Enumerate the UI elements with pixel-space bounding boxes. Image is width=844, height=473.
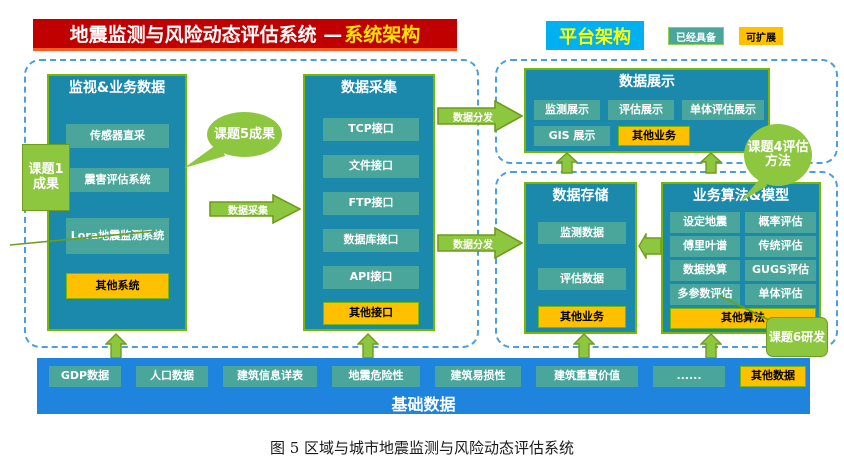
legend-platform-label: 平台架构	[559, 23, 631, 49]
chip-data-conversion[interactable]: 数据换算	[670, 260, 740, 281]
arrow-base-feed-storage	[573, 333, 595, 359]
chip-database-interface[interactable]: 数据库接口	[323, 229, 419, 252]
chip-building-replacement-value[interactable]: 建筑重置价值	[536, 366, 638, 387]
chip-scenario-earthquake[interactable]: 设定地震	[670, 212, 740, 233]
panel-monitoring-title: 监视&业务数据	[49, 76, 185, 99]
chip-api-interface[interactable]: API接口	[323, 266, 419, 289]
figure-caption: 图 5 区域与城市地震监测与风险动态评估系统	[0, 437, 844, 458]
chip-fourier-spectrum[interactable]: 傅里叶谱	[670, 236, 740, 257]
page-title-accent: 系统架构	[344, 20, 420, 47]
chip-building-info-table[interactable]: 建筑信息详表	[223, 366, 317, 387]
panel-data-display-title: 数据展示	[526, 70, 768, 93]
page-title: 地震监测与风险动态评估系统 — 系统架构	[33, 19, 457, 51]
chip-monitoring-display[interactable]: 监测展示	[534, 100, 600, 120]
callout-topic6-rnd: 课题6研发	[766, 317, 828, 357]
arrow-display-feed-storage	[556, 152, 578, 174]
arrow-storage-algorithm-link	[638, 233, 662, 259]
chip-other-business-storage[interactable]: 其他业务	[538, 306, 626, 328]
arrow-data-collection: 数据采集	[209, 194, 301, 224]
chip-other-interfaces[interactable]: 其他接口	[323, 302, 419, 325]
chip-other-systems[interactable]: 其他系统	[66, 273, 169, 299]
callout-topic4-assessment-method: 课题4评估方法	[744, 124, 812, 186]
base-data-label: 基础数据	[37, 391, 810, 415]
chip-single-building-assessment-display[interactable]: 单体评估展示	[682, 100, 764, 120]
architecture-diagram: 地震监测与风险动态评估系统 — 系统架构 平台架构 已经具备 可扩展 监视&业务…	[0, 0, 844, 473]
chip-other-data[interactable]: 其他数据	[740, 366, 806, 387]
chip-population-data[interactable]: 人口数据	[136, 366, 208, 387]
callout-topic5-achievement: 课题5成果	[207, 112, 282, 157]
chip-monitoring-data[interactable]: 监测数据	[538, 222, 626, 244]
chip-gugs-assessment[interactable]: GUGS评估	[745, 260, 816, 281]
chip-gdp-data[interactable]: GDP数据	[49, 366, 121, 387]
chip-ftp-interface[interactable]: FTP接口	[323, 192, 419, 215]
chip-tcp-interface[interactable]: TCP接口	[323, 118, 419, 141]
legend-platform-architecture: 平台架构	[546, 21, 644, 50]
chip-traditional-assessment[interactable]: 传统评估	[745, 236, 816, 257]
panel-data-collection: 数据采集 TCP接口 文件接口 FTP接口 数据库接口 API接口 其他接口	[303, 74, 435, 331]
callout-topic1-achievement: 课题1成果	[22, 144, 70, 211]
arrow-base-feed-collection	[357, 333, 379, 359]
legend-available: 已经具备	[668, 27, 724, 45]
chip-other-business-display[interactable]: 其他业务	[618, 126, 690, 146]
chip-seismic-hazard[interactable]: 地震危险性	[332, 366, 420, 387]
callout-topic6-label: 课题6研发	[769, 331, 825, 344]
panel-data-storage: 数据存储 监测数据 评估数据 其他业务	[524, 182, 637, 334]
chip-ellipsis-more-data[interactable]: ......	[653, 366, 725, 387]
panel-data-collection-title: 数据采集	[305, 76, 433, 99]
arrow-display-feed-algorithm	[700, 152, 722, 174]
chip-building-vulnerability[interactable]: 建筑易损性	[435, 366, 521, 387]
arrow-data-distribution-bottom: 数据分发	[437, 227, 523, 259]
arrow-base-feed-algorithm	[700, 333, 722, 359]
legend-extensible: 可扩展	[739, 27, 783, 45]
panel-data-storage-title: 数据存储	[526, 184, 635, 207]
chip-assessment-data[interactable]: 评估数据	[538, 268, 626, 290]
callout-topic1-label: 课题1成果	[23, 163, 69, 191]
arrow-base-feed-monitoring	[105, 333, 127, 359]
chip-sensor-direct-collection[interactable]: 传感器直采	[66, 124, 169, 148]
callout-topic5-label: 课题5成果	[214, 128, 275, 142]
page-title-main: 地震监测与风险动态评估系统 —	[70, 20, 343, 47]
callout-topic1-connector	[8, 228, 158, 248]
chip-seismic-damage-assessment-system[interactable]: 震害评估系统	[66, 168, 169, 192]
chip-gis-display[interactable]: GIS 展示	[534, 126, 610, 146]
chip-file-interface[interactable]: 文件接口	[323, 155, 419, 178]
callout-topic4-label: 课题4评估方法	[744, 141, 812, 168]
chip-assessment-display[interactable]: 评估展示	[608, 100, 674, 120]
base-data-bar: GDP数据 人口数据 建筑信息详表 地震危险性 建筑易损性 建筑重置价值 ...…	[37, 358, 810, 414]
panel-data-display: 数据展示 监测展示 评估展示 单体评估展示 GIS 展示 其他业务	[524, 68, 770, 153]
chip-probabilistic-assessment[interactable]: 概率评估	[745, 212, 816, 233]
arrow-data-distribution-top: 数据分发	[437, 100, 523, 132]
